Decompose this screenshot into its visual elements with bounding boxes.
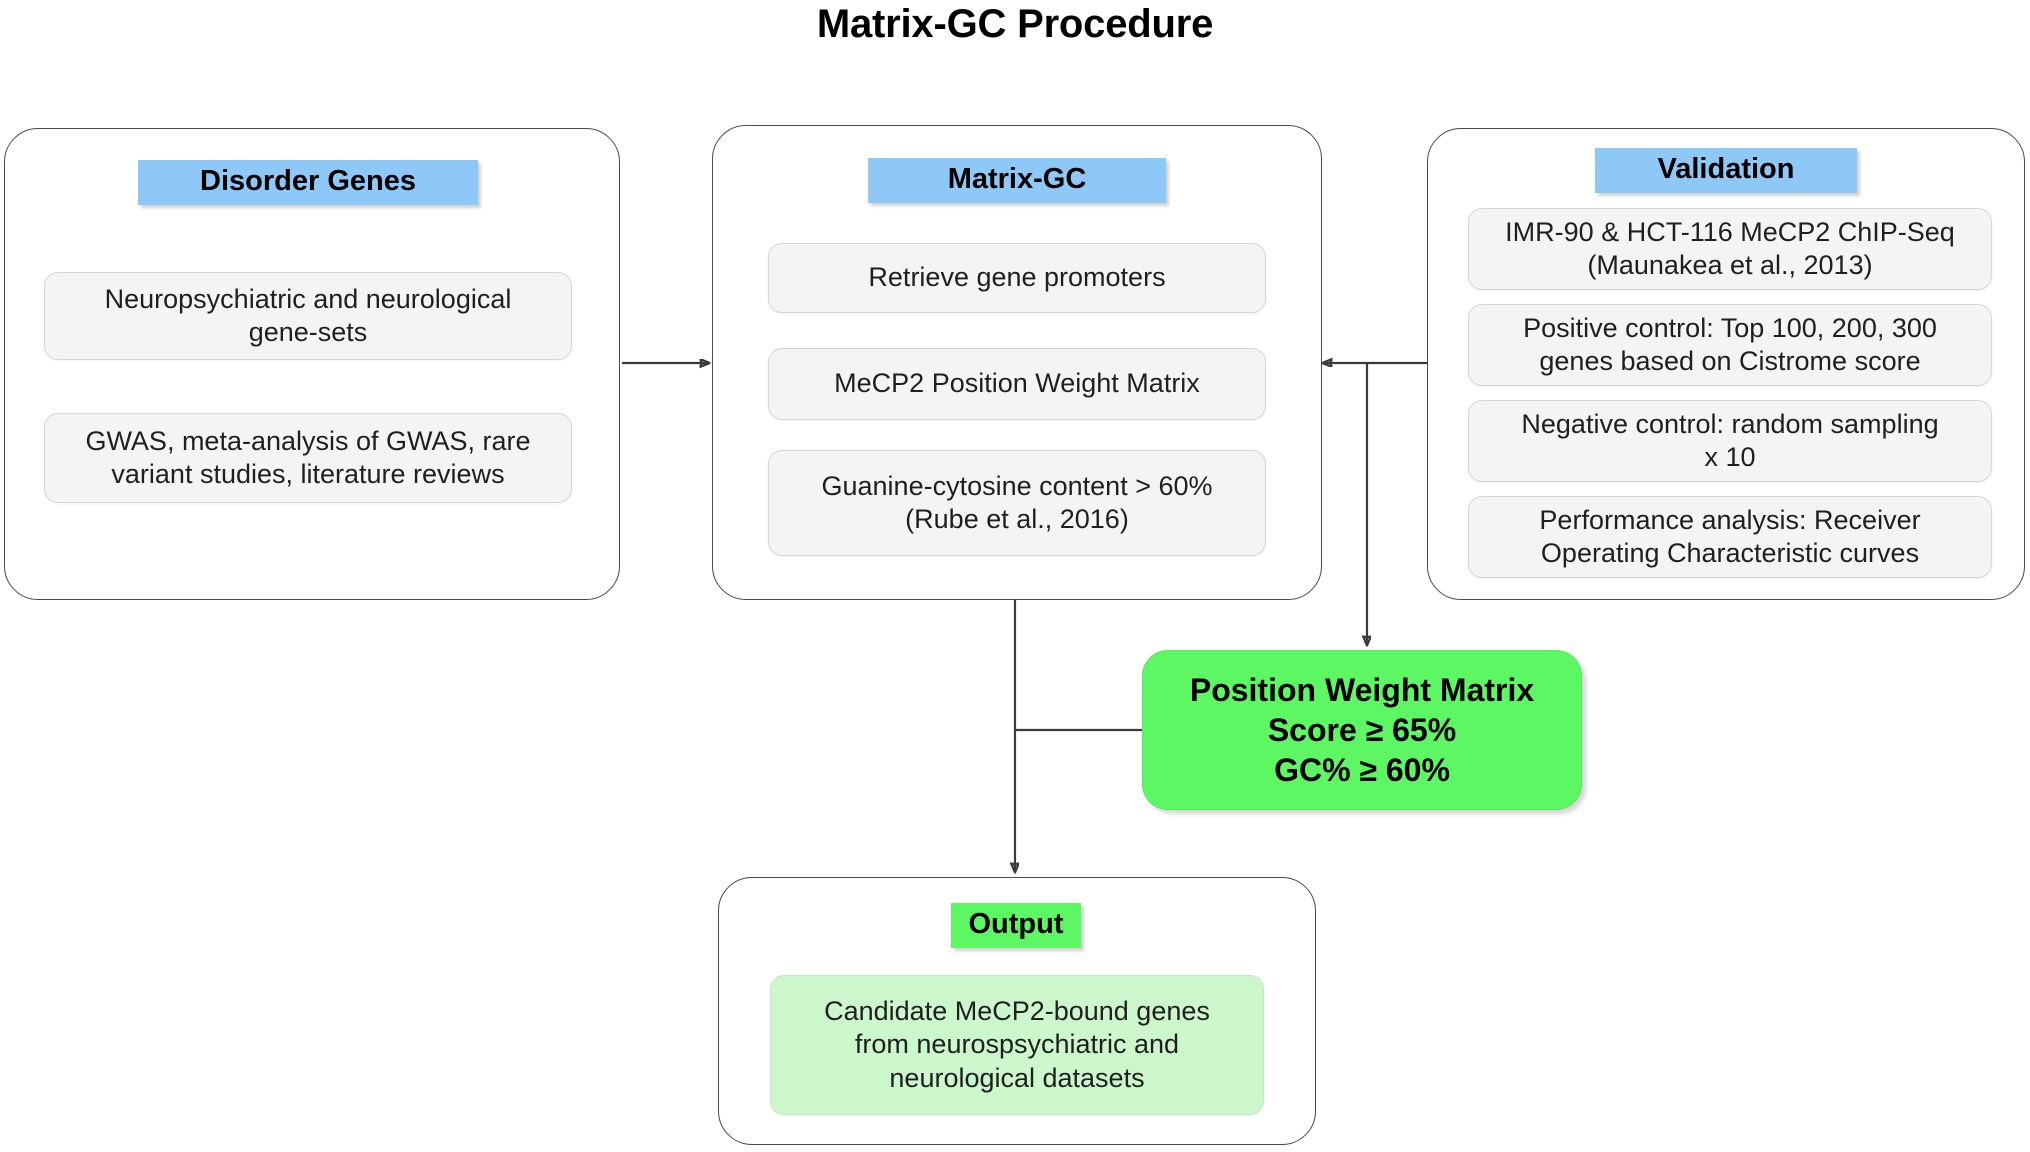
output-item-1: Candidate MeCP2-bound genes from neurosp… <box>770 975 1264 1115</box>
validation-item-4: Performance analysis: Receiver Operating… <box>1468 496 1992 578</box>
matrix-gc-item-1: Retrieve gene promoters <box>768 243 1266 313</box>
figure-canvas: Matrix-GC Procedure Matrix-GC --> Matrix… <box>0 0 2030 1152</box>
disorder-genes-item-2: GWAS, meta-analysis of GWAS, rare varian… <box>44 413 572 503</box>
figure-title: Matrix-GC Procedure <box>0 2 2030 47</box>
terminal-criterion-gc: GC% ≥ 60% <box>1274 750 1450 790</box>
panel-header-disorder-genes: Disorder Genes <box>138 160 478 205</box>
matrix-gc-item-2: MeCP2 Position Weight Matrix <box>768 348 1266 420</box>
panel-header-matrix-gc: Matrix-GC <box>868 158 1166 203</box>
terminal-title: Position Weight Matrix <box>1190 670 1534 710</box>
terminal-criterion-score: Score ≥ 65% <box>1268 710 1456 750</box>
validation-item-3: Negative control: random sampling x 10 <box>1468 400 1992 482</box>
disorder-genes-item-1: Neuropsychiatric and neurological gene-s… <box>44 272 572 360</box>
panel-header-validation: Validation <box>1595 148 1857 193</box>
validation-item-2: Positive control: Top 100, 200, 300 gene… <box>1468 304 1992 386</box>
panel-header-output: Output <box>951 903 1081 948</box>
validation-item-1: IMR-90 & HCT-116 MeCP2 ChIP-Seq (Maunake… <box>1468 208 1992 290</box>
matrix-gc-item-3: Guanine-cytosine content > 60% (Rube et … <box>768 450 1266 556</box>
terminal-position-weight-matrix: Position Weight Matrix Score ≥ 65% GC% ≥… <box>1142 650 1582 810</box>
